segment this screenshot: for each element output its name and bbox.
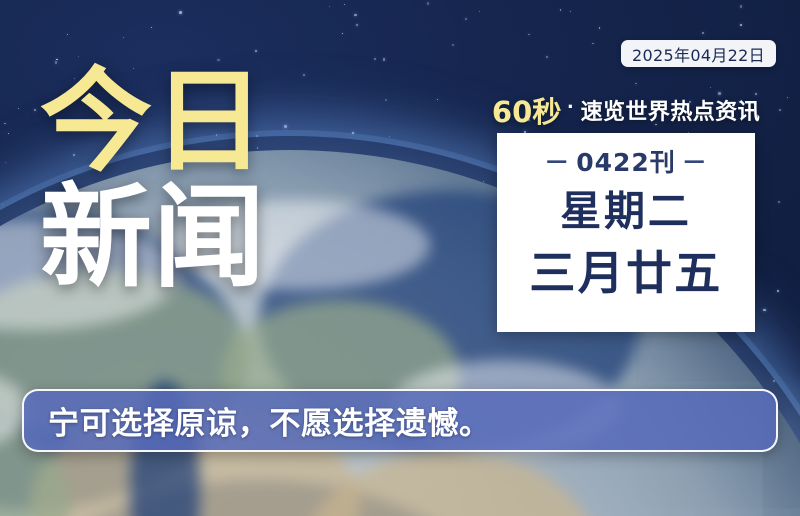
lunar-date-label: 三月廿五 (529, 250, 722, 296)
quote-bar: 宁可选择原谅，不愿选择遗憾。 (22, 389, 778, 452)
weekday-label: 星期二 (560, 191, 692, 232)
quote-text: 宁可选择原谅，不愿选择遗憾。 (48, 398, 491, 443)
issue-card: －0422刊－ 星期二 三月廿五 (497, 133, 755, 332)
date-badge-label: 2025年04月22日 (632, 42, 765, 66)
tagline: 60秒 · 速览世界热点资讯 (497, 92, 755, 128)
issue-line: －0422刊－ (538, 143, 714, 179)
issue-dash-left: － (538, 148, 576, 177)
issue-dash-right: － (676, 148, 714, 177)
news-poster: 今日 新闻 2025年04月22日 60秒 · 速览世界热点资讯 －0422刊－… (0, 0, 800, 516)
date-badge: 2025年04月22日 (621, 40, 776, 67)
tagline-separator: · (565, 94, 576, 126)
title-line-2: 新闻 (40, 184, 370, 294)
tagline-highlight: 60秒 (492, 89, 561, 131)
tagline-text: 速览世界热点资讯 (581, 94, 761, 126)
title-line-1: 今日 (40, 68, 370, 178)
issue-number: 0422刊 (576, 148, 676, 177)
page-title: 今日 新闻 (40, 68, 370, 294)
